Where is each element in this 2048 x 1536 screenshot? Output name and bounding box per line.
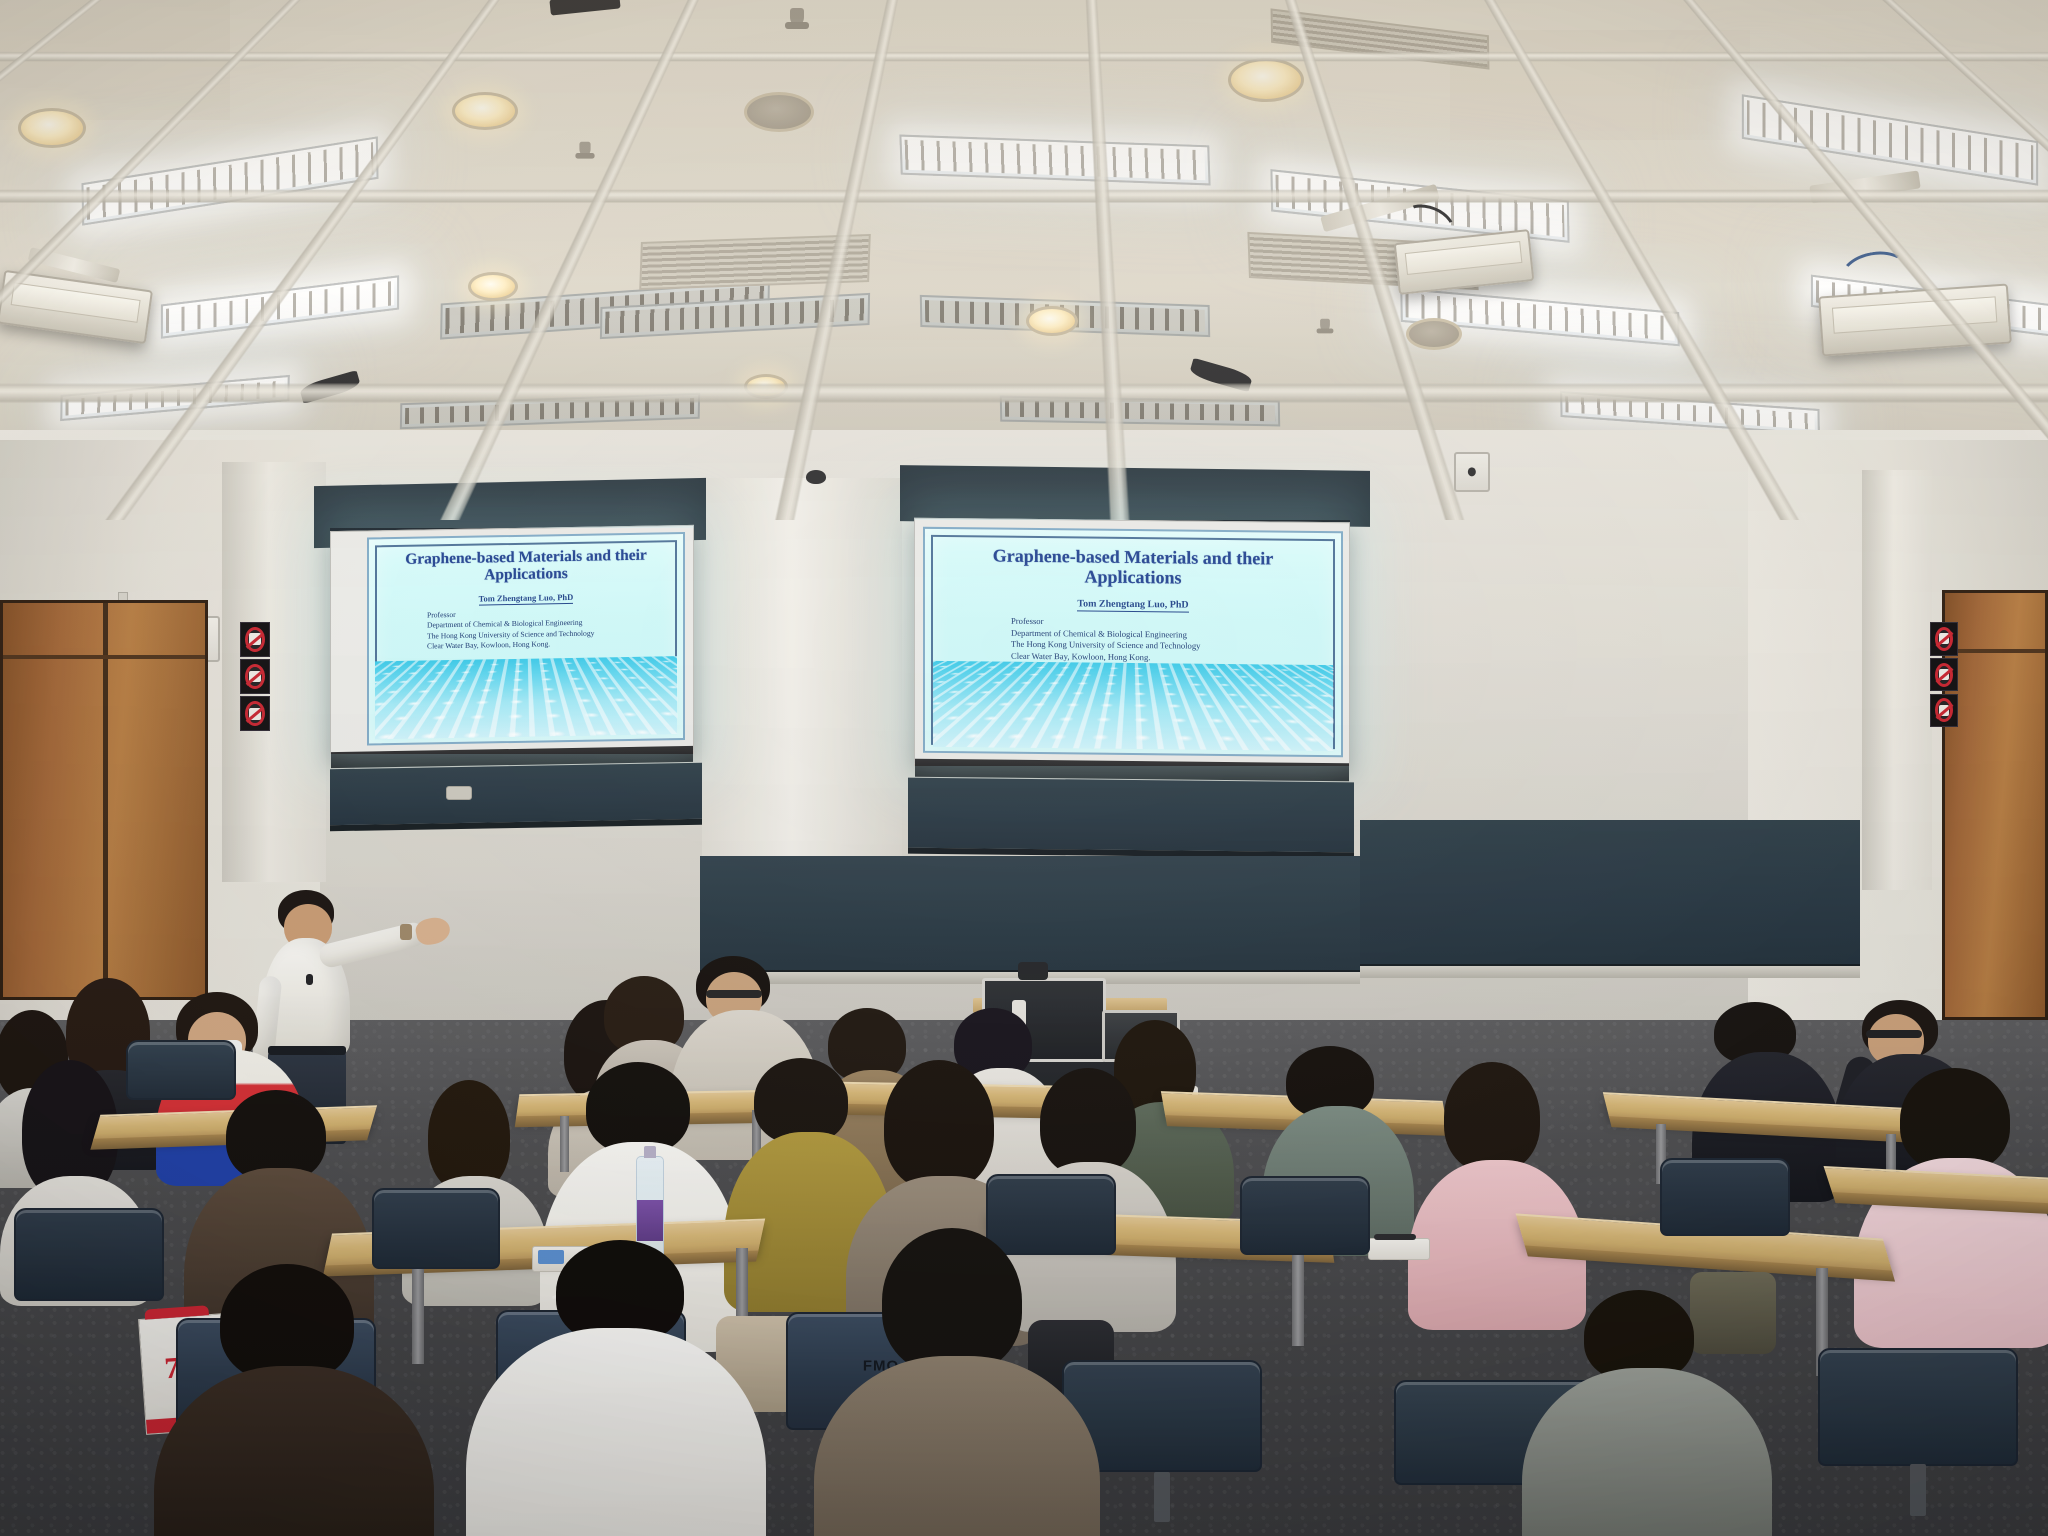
pen[interactable] <box>1374 1234 1416 1240</box>
board-chalk-rail <box>1360 966 1860 978</box>
whiteboard-far-right <box>1360 820 1860 970</box>
right-projection-screen: Graphene-based Materials and their Appli… <box>914 518 1350 769</box>
podium-webcam <box>1018 962 1048 980</box>
tissue-packet[interactable] <box>1368 1238 1430 1260</box>
student <box>1530 1290 1760 1536</box>
chair[interactable] <box>14 1208 164 1358</box>
no-smoking-sign <box>240 622 270 657</box>
slide-title: Graphene-based Materials and their Appli… <box>942 545 1325 589</box>
student <box>164 1264 424 1536</box>
wall-speaker-right <box>1454 452 1490 492</box>
chair[interactable] <box>1818 1348 2018 1536</box>
presenter-watch <box>400 924 412 940</box>
chair[interactable] <box>1660 1158 1790 1284</box>
security-camera <box>806 470 826 484</box>
student <box>478 1240 758 1536</box>
presenter-lapel-mic <box>306 974 313 985</box>
graphene-lattice-figure <box>933 660 1332 750</box>
no-eating-sign <box>1930 658 1958 692</box>
wall-column-left <box>222 462 326 882</box>
chair[interactable] <box>1240 1176 1370 1304</box>
whiteboard-right <box>908 778 1354 859</box>
student <box>826 1228 1086 1536</box>
no-eating-sign <box>240 659 270 694</box>
slide-right: Graphene-based Materials and their Appli… <box>923 527 1343 757</box>
prohibition-signs-left <box>240 622 270 738</box>
no-drinking-sign <box>1930 694 1958 728</box>
left-projection-screen: Graphene-based Materials and their Appli… <box>330 525 694 757</box>
prohibition-signs-right <box>1930 622 1958 734</box>
eyeglasses <box>1866 1030 1922 1038</box>
slide-affiliation: Professor Department of Chemical & Biolo… <box>427 608 594 652</box>
wall-column-center <box>702 478 902 858</box>
slide-left: Graphene-based Materials and their Appli… <box>367 532 685 746</box>
chair[interactable] <box>126 1040 236 1136</box>
wall-column-right <box>1862 470 1932 890</box>
whiteboard-left <box>330 763 702 831</box>
no-smoking-sign <box>1930 622 1958 656</box>
no-drinking-sign <box>240 696 270 731</box>
graphene-lattice-figure <box>375 656 676 739</box>
lecture-hall-scene: EXIT出口 Graphene-based Materials and thei… <box>0 0 2048 1536</box>
slide-title: Graphene-based Materials and their Appli… <box>382 546 671 586</box>
wall-outlet[interactable] <box>446 786 472 800</box>
door-left[interactable] <box>0 600 208 1000</box>
slide-affiliation: Professor Department of Chemical & Biolo… <box>1011 616 1200 664</box>
eyeglasses <box>706 990 762 998</box>
